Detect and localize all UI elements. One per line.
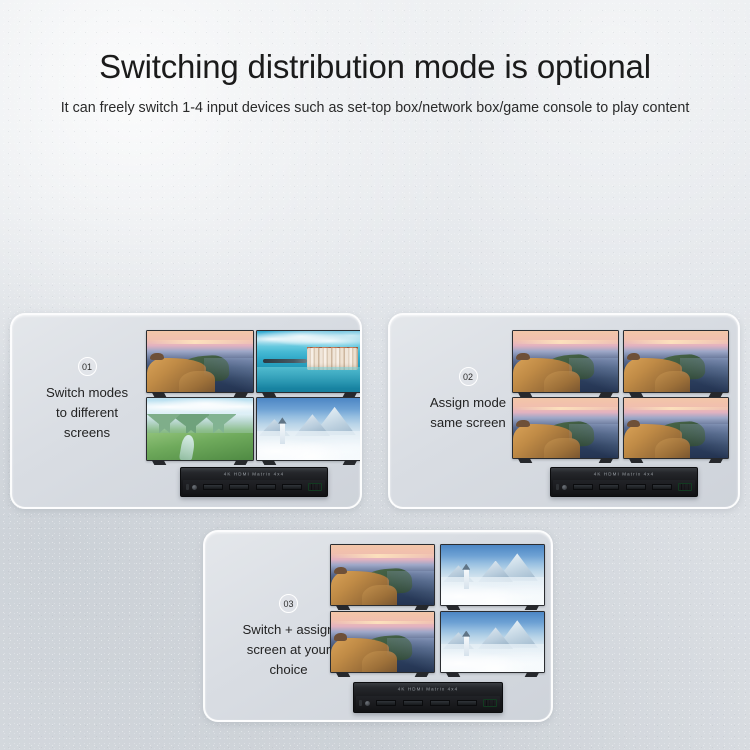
tv-screen-3 [146,397,254,460]
mode-card-1[interactable]: 01 Switch modes to different screens [10,313,362,509]
scene-coastal-sunset-icon [513,331,618,392]
mode-card-3-line-2: screen at your [247,640,331,660]
mode-card-2-tv-grid [512,330,729,459]
hdmi-port [652,484,672,490]
hdmi-port [203,484,223,490]
tv-screen-2 [623,330,730,393]
tv-screen-3 [512,397,619,460]
hdmi-port [256,484,276,490]
mode-card-2-badge: 02 [459,367,478,386]
power-knob-icon [192,485,197,490]
tv-screen-2 [256,330,363,393]
mode-card-1-badge: 01 [78,357,97,376]
port-row [200,480,305,494]
scene-snow-mountain-icon [441,612,544,672]
hdmi-matrix-device-2: 4K HDMI Matrix 4x4 [550,467,698,497]
tv-screen-4 [623,397,730,460]
hdmi-port [430,700,450,706]
green-terminal-block-icon [308,483,322,491]
header: Switching distribution mode is optional … [0,48,750,119]
hdmi-matrix-device-1: 4K HDMI Matrix 4x4 [180,467,328,497]
tv-screen-4-content [257,398,363,459]
mode-card-1-label-group: 01 Switch modes to different screens [22,357,152,443]
mode-card-3-badge: 03 [279,594,298,613]
hdmi-port [282,484,302,490]
scene-coastal-sunset-icon [331,545,434,605]
page-title: Switching distribution mode is optional [0,48,750,87]
mode-card-2-line-1: Assign mode [430,393,506,413]
tv-screen-4 [440,611,545,673]
tv-screen-4 [256,397,363,460]
tv-screen-1-content [147,331,253,392]
hdmi-port [573,484,593,490]
ir-sensor-icon [359,700,362,706]
hdmi-matrix-device-1-brand: 4K HDMI Matrix 4x4 [163,472,346,477]
ir-sensor-icon [556,484,559,490]
hdmi-port [599,484,619,490]
mode-card-1-line-3: screens [64,423,110,443]
hdmi-port [229,484,249,490]
tv-screen-2 [440,544,545,606]
tv-screen-2-content [257,331,363,392]
hdmi-matrix-device-1-front-panel [183,480,325,494]
mode-card-3[interactable]: 03 Switch + assign screen at your choice [203,530,553,722]
scene-coastal-sunset-icon [624,398,729,459]
scene-coastal-sunset-icon [331,612,434,672]
green-terminal-block-icon [483,699,497,707]
hdmi-matrix-device-3-front-panel [356,696,500,710]
scene-snow-mountain-icon [441,545,544,605]
mode-card-3-line-1: Switch + assign [243,620,335,640]
hdmi-matrix-device-3: 4K HDMI Matrix 4x4 [353,682,503,713]
mode-card-3-line-3: choice [269,660,307,680]
tv-screen-1 [512,330,619,393]
port-row [570,480,675,494]
tv-screen-1 [330,544,435,606]
mode-card-1-line-2: to different [56,403,118,423]
tv-screen-3 [330,611,435,673]
hdmi-matrix-device-2-front-panel [553,480,695,494]
scene-coastal-sunset-icon [624,331,729,392]
tv-screen-3-content [147,398,253,459]
mode-card-2[interactable]: 02 Assign mode same screen [388,313,740,509]
hdmi-port [626,484,646,490]
mode-card-1-tv-grid [146,330,362,461]
mode-card-2-line-2: same screen [430,413,506,433]
hdmi-matrix-device-2-brand: 4K HDMI Matrix 4x4 [533,472,716,477]
hdmi-port [376,700,396,706]
page-subtitle: It can freely switch 1-4 input devices s… [25,97,725,119]
port-row [373,696,480,710]
ir-sensor-icon [186,484,189,490]
green-terminal-block-icon [678,483,692,491]
hdmi-port [403,700,423,706]
scene-turquoise-bay-icon [257,331,363,392]
power-knob-icon [562,485,567,490]
tv-screen-1 [146,330,254,393]
scene-green-valley-icon [147,398,253,459]
hdmi-port [457,700,477,706]
mode-card-1-line-1: Switch modes [46,383,128,403]
scene-coastal-sunset-icon [147,331,253,392]
power-knob-icon [365,701,370,706]
hdmi-matrix-device-3-brand: 4K HDMI Matrix 4x4 [336,687,521,692]
mode-card-3-tv-grid [330,544,545,673]
scene-coastal-sunset-icon [513,398,618,459]
scene-snow-mountain-icon [257,398,363,459]
